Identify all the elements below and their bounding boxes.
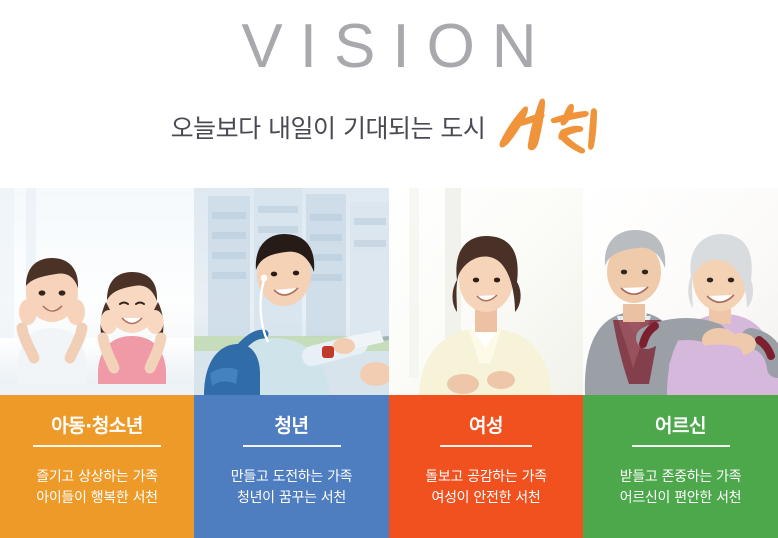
panel-desc-line1-youth: 만들고 도전하는 가족	[231, 469, 353, 485]
panel-rule-seniors	[632, 445, 730, 447]
woman-photo	[389, 188, 583, 395]
panel-label-women: 여성	[469, 411, 503, 438]
panel-rule-women	[440, 445, 532, 447]
panel-band: 아동·청소년 즐기고 상상하는 가족아이들이 행복한 서천 청년 만들고 도전하…	[0, 395, 778, 538]
panel-desc-line1-children: 즐기고 상상하는 가족	[36, 469, 158, 485]
panel-desc-line2-youth: 청년이 꿈꾸는 서천	[237, 490, 346, 506]
panel-desc-line2-women: 여성이 안전한 서천	[432, 490, 541, 506]
panel-seniors[interactable]: 어르신 받들고 존중하는 가족어르신이 편안한 서천	[583, 395, 778, 538]
panel-desc-seniors: 받들고 존중하는 가족어르신이 편안한 서천	[620, 467, 742, 509]
panel-desc-line2-seniors: 어르신이 편안한 서천	[620, 490, 742, 506]
panel-rule-youth	[243, 445, 341, 447]
panel-children[interactable]: 아동·청소년 즐기고 상상하는 가족아이들이 행복한 서천	[0, 395, 194, 538]
panel-rule-children	[33, 445, 161, 447]
panel-desc-line1-women: 돌보고 공감하는 가족	[425, 469, 547, 485]
vision-banner: VISION 오늘보다 내일이 기대되는 도시	[0, 0, 778, 538]
panel-women[interactable]: 여성 돌보고 공감하는 가족여성이 안전한 서천	[389, 395, 583, 538]
panel-desc-women: 돌보고 공감하는 가족여성이 안전한 서천	[425, 467, 547, 509]
subtitle-text: 오늘보다 내일이 기대되는 도시	[171, 109, 486, 145]
panel-desc-line1-seniors: 받들고 존중하는 가족	[620, 469, 742, 485]
banner-header: VISION 오늘보다 내일이 기대되는 도시	[0, 0, 778, 188]
page-title: VISION	[0, 14, 778, 80]
panel-desc-youth: 만들고 도전하는 가족청년이 꿈꾸는 서천	[231, 467, 353, 509]
children-photo	[0, 188, 194, 395]
panel-label-youth: 청년	[275, 411, 309, 438]
panel-label-children: 아동·청소년	[51, 411, 143, 438]
panel-desc-line2-children: 아이들이 행복한 서천	[36, 490, 158, 506]
subtitle-row: 오늘보다 내일이 기대되는 도시	[0, 96, 778, 158]
photo-band	[0, 188, 778, 395]
youth-photo	[194, 188, 389, 395]
panel-youth[interactable]: 청년 만들고 도전하는 가족청년이 꿈꾸는 서천	[194, 395, 389, 538]
panel-label-seniors: 어르신	[655, 411, 706, 438]
seniors-photo	[583, 188, 778, 395]
panel-desc-children: 즐기고 상상하는 가족아이들이 행복한 서천	[36, 467, 158, 509]
seocheon-brand-logo	[497, 88, 607, 158]
